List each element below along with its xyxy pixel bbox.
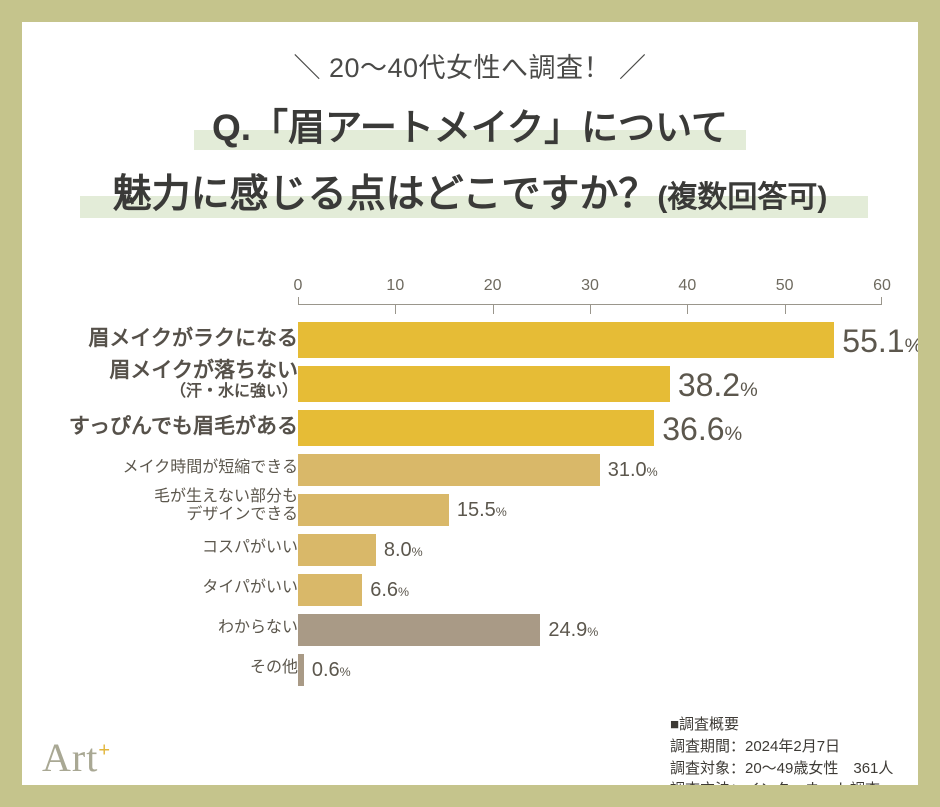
axis-tick-label: 30 [581,277,599,295]
bar-label: 眉メイクが落ちない（汗・水に強い） [22,359,298,400]
bar [298,574,362,606]
survey-method: 調査方法：インターネット調査 [670,779,893,785]
header: ＼ 20〜40代女性へ調査！ ／ Q.「眉アートメイク」について 魅力に感じる点… [22,22,918,219]
bar [298,410,654,446]
bar-label-main: 眉メイクが落ちない [22,359,298,383]
title-line-2-text: 魅力に感じる点はどこですか？ [113,173,658,216]
bar-value-number: 55.1 [842,323,904,359]
bar-value-percent-sign: % [587,625,598,639]
title-line-2-paren: (複数回答可) [657,181,827,214]
chart-row: タイパがいい6.6% [22,574,918,614]
bar-label-main: すっぴんでも眉毛がある [22,415,298,439]
bar-label: その他 [22,659,298,677]
axis-tick [590,304,591,314]
axis-tick-label: 20 [484,277,502,295]
logo-text: Art [42,735,98,780]
bar-chart: 眉メイクがラクになる55.1%眉メイクが落ちない（汗・水に強い）38.2%すっぴ… [22,322,918,694]
bar-value-percent-sign: % [647,465,658,479]
survey-heading: ■調査概要 [670,714,893,736]
bar-label: メイク時間が短縮できる [22,459,298,477]
bar [298,534,376,566]
kicker-text: ＼ 20〜40代女性へ調査！ ／ [22,46,918,85]
bar-label: すっぴんでも眉毛がある [22,415,298,439]
title-line-1: Q.「眉アートメイク」について [22,97,918,151]
bar-value-percent-sign: % [905,335,918,357]
survey-period: 調査期間：2024年2月7日 [670,736,893,758]
bar-label-main: タイパがいい [22,579,298,597]
bar-label-sub: デザインできる [22,506,298,524]
chart-row: 眉メイクが落ちない（汗・水に強い）38.2% [22,366,918,410]
bar-value: 31.0% [608,459,658,482]
survey-target: 調査対象：20〜49歳女性 361人 [670,758,893,780]
survey-overview: ■調査概要 調査期間：2024年2月7日 調査対象：20〜49歳女性 361人 … [670,714,893,785]
bar [298,454,600,486]
x-axis: 0102030405060 [298,277,882,317]
axis-tick [687,304,688,314]
bar-value-percent-sign: % [412,545,423,559]
bar-value-number: 15.5 [457,499,496,521]
infographic-frame: ＼ 20〜40代女性へ調査！ ／ Q.「眉アートメイク」について 魅力に感じる点… [22,22,918,785]
bar-label-main: その他 [22,659,298,677]
bar-label-main: 眉メイクがラクになる [22,327,298,351]
axis-tick-label: 10 [386,277,404,295]
bar [298,366,670,402]
bar-value: 0.6% [312,659,351,682]
chart-row: その他0.6% [22,654,918,694]
bar-label: 眉メイクがラクになる [22,327,298,351]
bar [298,654,304,686]
bar-value-percent-sign: % [496,505,507,519]
bar-value-percent-sign: % [740,379,758,401]
axis-tick-label: 60 [873,277,891,295]
chart-row: 毛が生えない部分もデザインできる15.5% [22,494,918,534]
bar-value: 24.9% [548,619,598,642]
bar-value-number: 38.2 [678,367,740,403]
bar [298,494,449,526]
bar-value: 38.2% [678,367,758,404]
bar-label-main: コスパがいい [22,539,298,557]
bar-label: コスパがいい [22,539,298,557]
bar-value: 15.5% [457,499,507,522]
bar-value: 55.1% [842,323,918,360]
bar-value: 36.6% [662,411,742,448]
axis-tick [493,304,494,314]
title-line-1-text: Q.「眉アートメイク」について [212,107,728,148]
bar-value-number: 31.0 [608,459,647,481]
bar-label-main: 毛が生えない部分も [22,488,298,506]
axis-tick [881,297,882,305]
bar-value-number: 8.0 [384,539,412,561]
bar-value-number: 0.6 [312,659,340,681]
bar-value: 6.6% [370,579,409,602]
axis-tick [298,297,299,305]
axis-tick-label: 0 [294,277,303,295]
bar [298,322,834,358]
bar-value-percent-sign: % [398,585,409,599]
bar-label-main: わからない [22,619,298,637]
axis-tick-label: 40 [678,277,696,295]
bar-value-percent-sign: % [340,665,351,679]
axis-tick [785,304,786,314]
brand-logo: Art+ [42,734,111,781]
chart-row: すっぴんでも眉毛がある36.6% [22,410,918,454]
bar-value-number: 24.9 [548,619,587,641]
chart-row: わからない24.9% [22,614,918,654]
bar-value: 8.0% [384,539,423,562]
title-line-2: 魅力に感じる点はどこですか？(複数回答可) [22,163,918,219]
bar-label-sub: （汗・水に強い） [22,383,298,401]
bar [298,614,540,646]
bar-label: 毛が生えない部分もデザインできる [22,488,298,524]
bar-label: わからない [22,619,298,637]
axis-tick [395,304,396,314]
axis-tick-label: 50 [776,277,794,295]
logo-plus-icon: + [98,740,111,762]
bar-value-percent-sign: % [725,423,743,445]
bar-value-number: 36.6 [662,411,724,447]
chart-row: コスパがいい8.0% [22,534,918,574]
bar-label-main: メイク時間が短縮できる [22,459,298,477]
bar-label: タイパがいい [22,579,298,597]
bar-value-number: 6.6 [370,579,398,601]
